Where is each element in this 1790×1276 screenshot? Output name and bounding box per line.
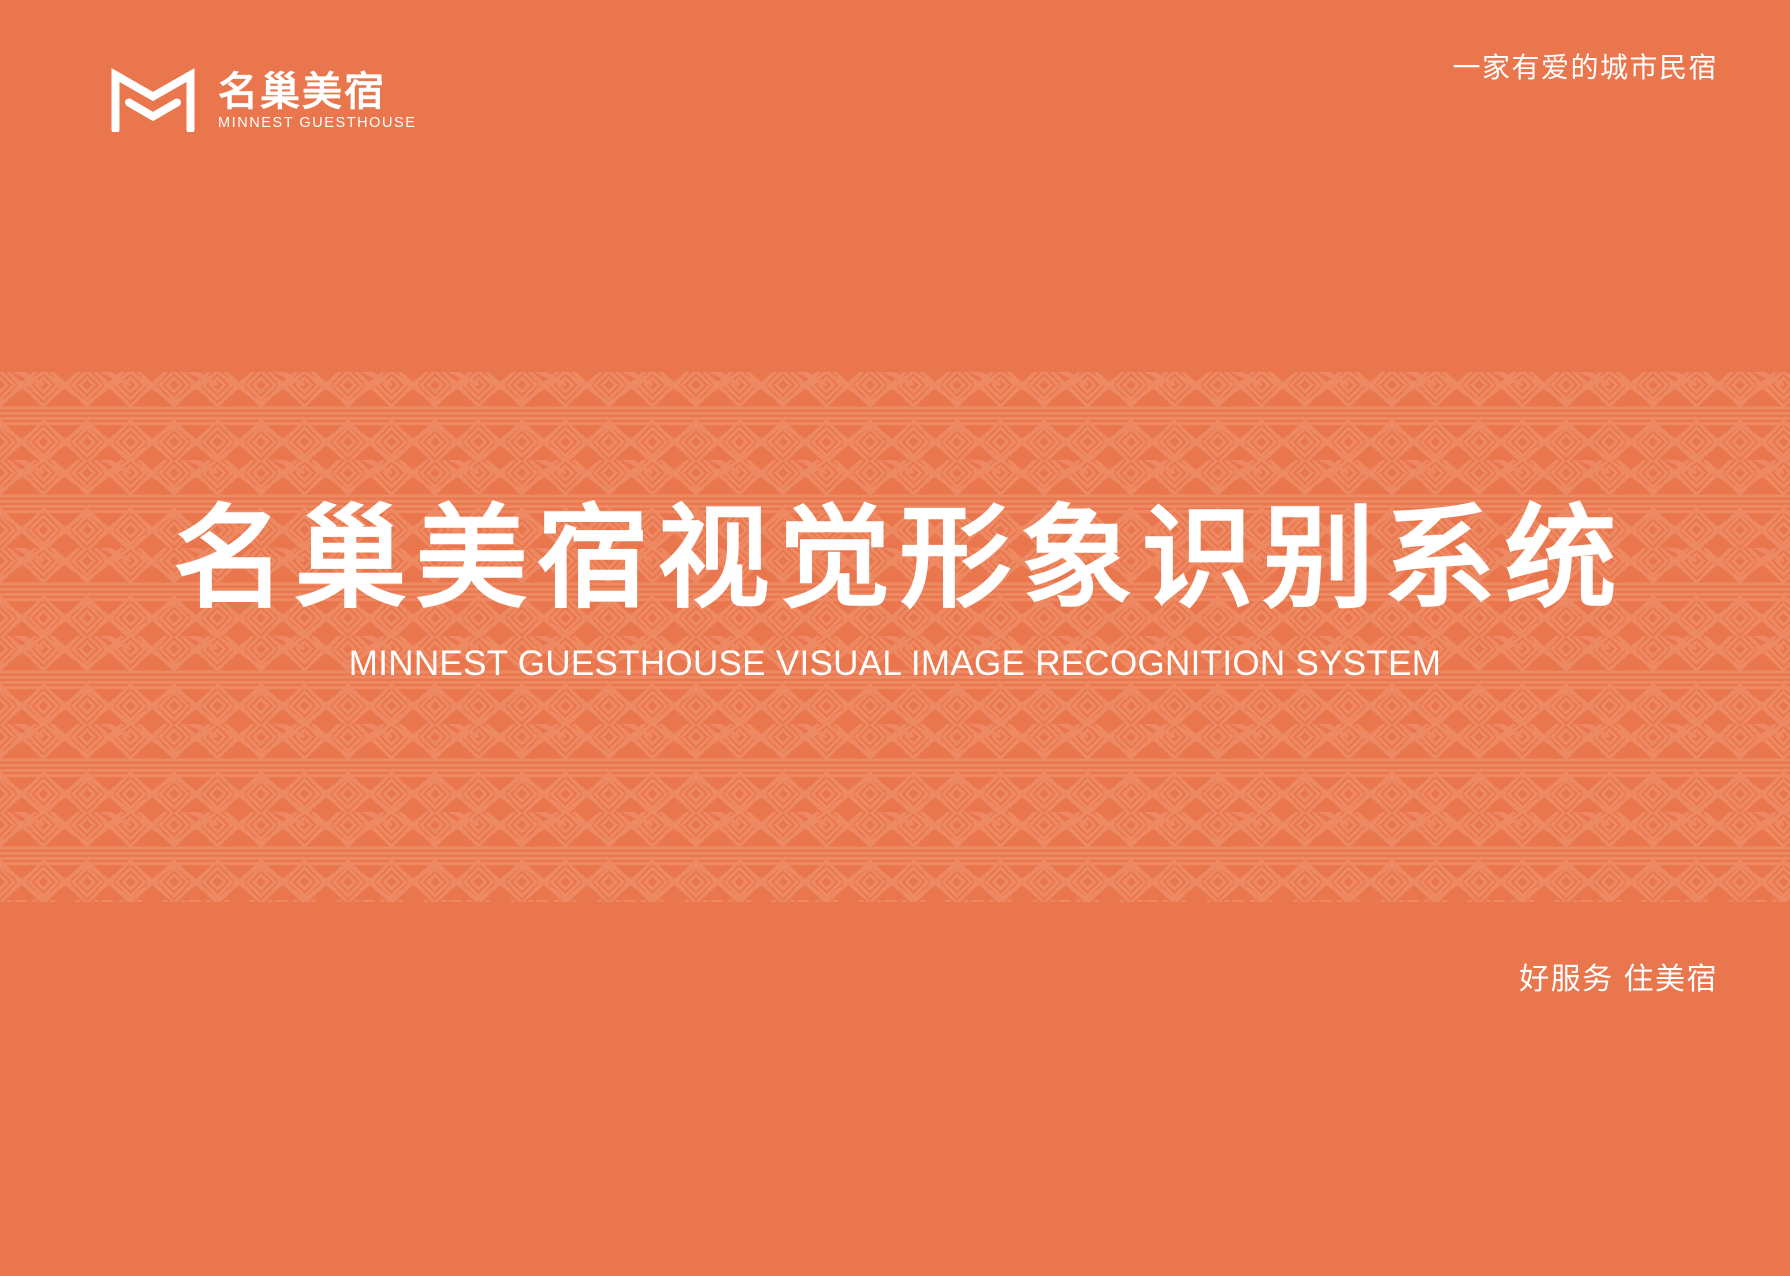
- brand-wordmark: 名巢美宿 MINNEST GUESTHOUSE: [218, 72, 416, 133]
- header-tagline: 一家有爱的城市民宿: [1452, 54, 1718, 82]
- page-header: 名巢美宿 MINNEST GUESTHOUSE 一家有爱的城市民宿: [0, 0, 1790, 200]
- page-footer: 好服务 住美宿: [1519, 965, 1718, 995]
- footer-slogan: 好服务 住美宿: [1519, 965, 1718, 995]
- minnest-m-chevron-logo-icon: [110, 68, 196, 132]
- brand-name-cn: 名巢美宿: [218, 72, 416, 112]
- brand-name-en: MINNEST GUESTHOUSE: [218, 116, 416, 131]
- page-subtitle: MINNEST GUESTHOUSE VISUAL IMAGE RECOGNIT…: [60, 646, 1730, 681]
- brand-logo[interactable]: 名巢美宿 MINNEST GUESTHOUSE: [110, 68, 416, 132]
- hero-block: 名巢美宿视觉形象识别系统 MINNEST GUESTHOUSE VISUAL I…: [0, 500, 1790, 681]
- page-title: 名巢美宿视觉形象识别系统: [60, 500, 1730, 618]
- cover-page: 名巢美宿 MINNEST GUESTHOUSE 一家有爱的城市民宿 名巢美宿视觉…: [0, 0, 1790, 1276]
